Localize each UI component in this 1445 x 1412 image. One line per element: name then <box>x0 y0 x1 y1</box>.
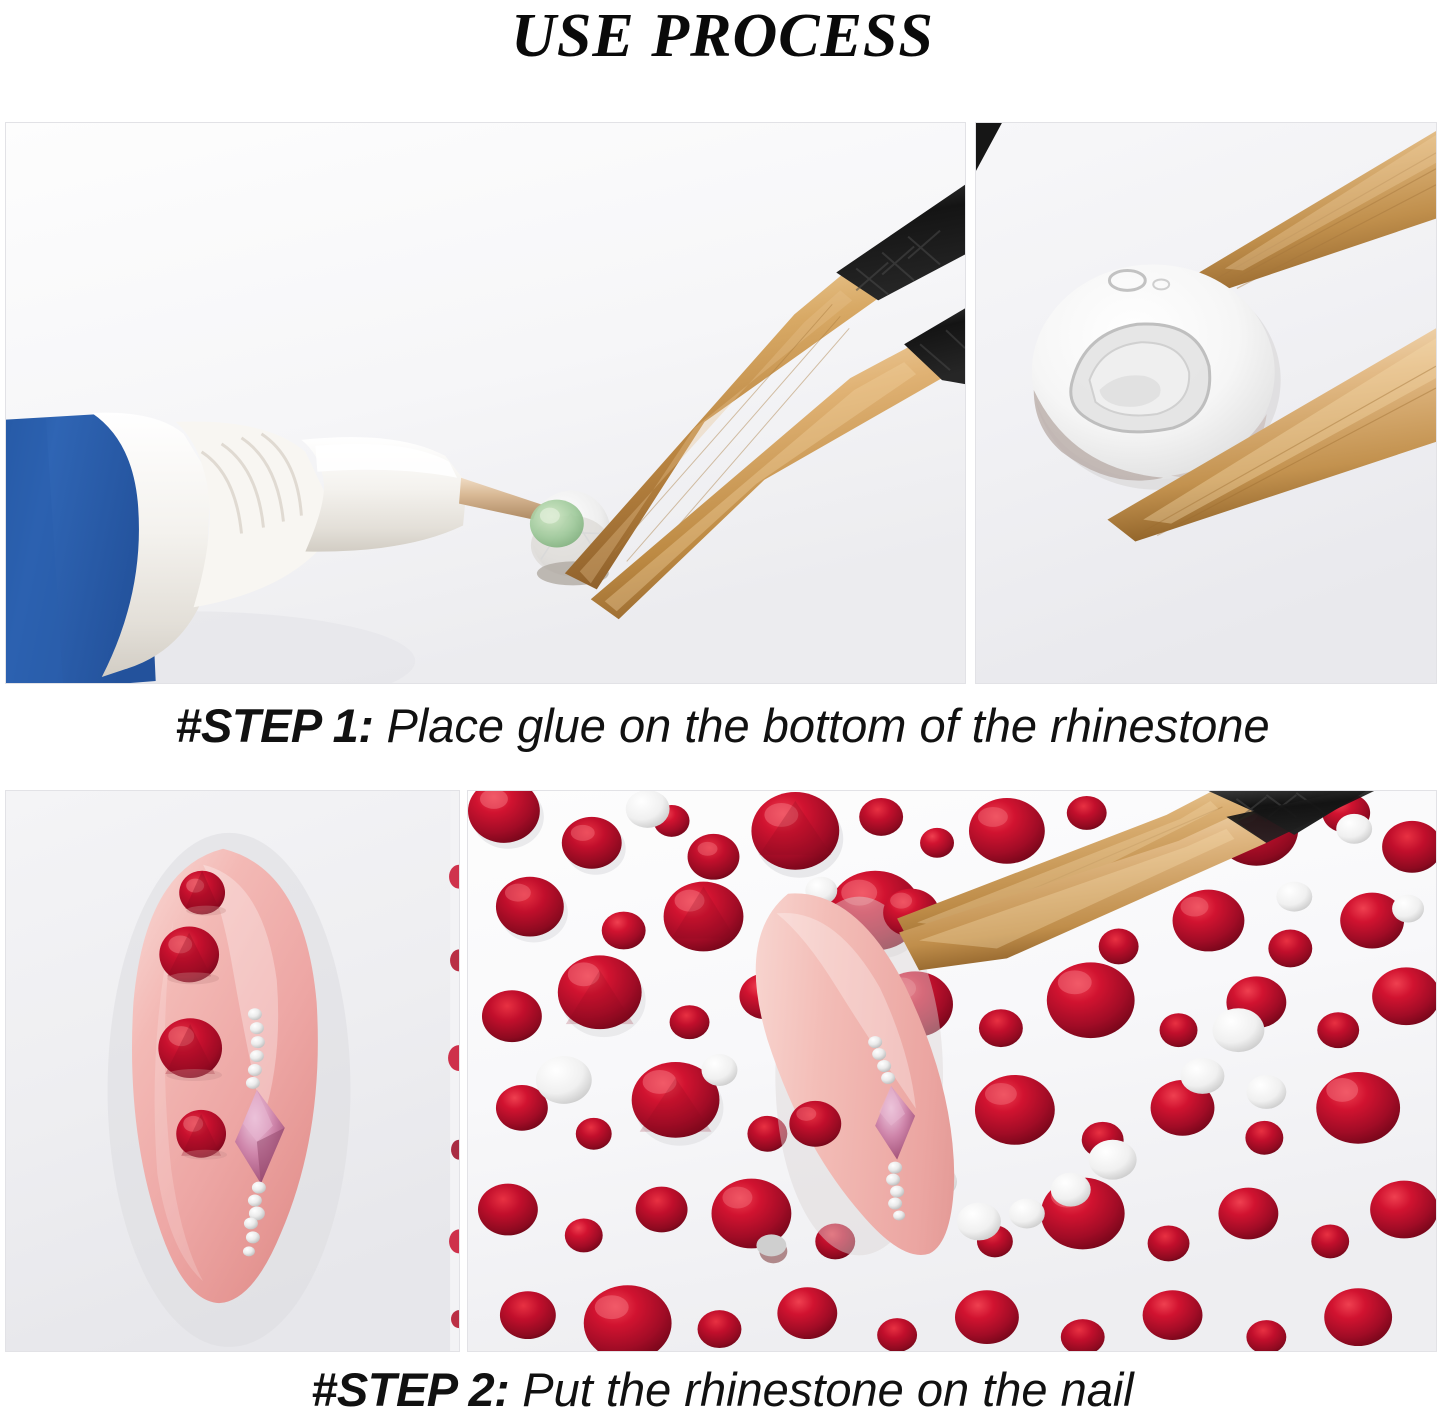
step-2-text: Put the rhinestone on the nail <box>509 1363 1134 1412</box>
step-1-label: #STEP 1: <box>175 699 373 752</box>
page-title: USE PROCESS <box>0 2 1445 70</box>
panel-3-illustration <box>6 791 459 1351</box>
step-1-image-row <box>5 122 1437 684</box>
finished-nail-photo <box>5 790 460 1352</box>
rhinestone-glue-closeup-photo <box>975 122 1437 684</box>
step-2-image-row <box>5 790 1437 1352</box>
step-1-caption: #STEP 1: Place glue on the bottom of the… <box>0 698 1445 754</box>
rhinestone-scatter-and-nail-photo <box>467 790 1437 1352</box>
step-2-caption: #STEP 2: Put the rhinestone on the nail <box>0 1362 1445 1412</box>
panel-4-illustration <box>468 791 1436 1351</box>
panel-2-illustration <box>976 123 1436 683</box>
step-2-label: #STEP 2: <box>311 1363 509 1412</box>
use-process-infographic: USE PROCESS <box>0 0 1445 1412</box>
step-1-text: Place glue on the bottom of the rhinesto… <box>373 699 1269 752</box>
glue-applicator-and-tweezers-photo <box>5 122 966 684</box>
panel-1-illustration <box>6 123 965 683</box>
